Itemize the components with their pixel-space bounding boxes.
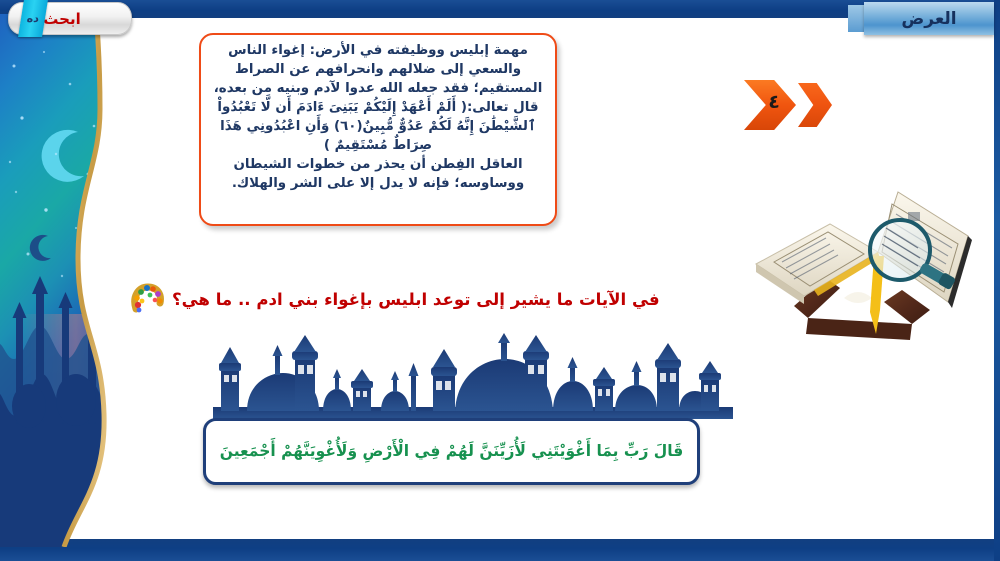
frame-bottom-bar	[0, 539, 1000, 561]
question-row: في الآيات ما يشير إلى توعد ابليس بإغواء …	[130, 282, 730, 316]
callout-paragraph-1: مهمة إبليس ووظيفته في الأرض: إغواء الناس…	[210, 41, 546, 155]
quran-verse-box: قَالَ رَبِّ بِمَا أَغْوَيْتَنِي لَأُزَيِ…	[203, 418, 700, 485]
chevron-small-icon	[798, 83, 832, 127]
frame-right-edge	[994, 0, 1000, 561]
callout-paragraph-2: العاقل الفِطن أن يحذر من خطوات الشيطان و…	[210, 155, 546, 193]
tab-search-label: ابحث	[43, 10, 80, 28]
slide-canvas: ده ابحث العرض مهمة إبليس ووظيفته في الأر…	[0, 0, 1000, 561]
quran-verse-text: قَالَ رَبِّ بِمَا أَغْوَيْتَنِي لَأُزَيِ…	[208, 440, 695, 463]
question-text: في الآيات ما يشير إلى توعد ابليس بإغواء …	[172, 290, 660, 309]
quran-illustration	[752, 178, 988, 350]
mosque-skyline-icon	[195, 333, 751, 425]
tab-search-badge: ده	[18, 0, 48, 37]
tab-view-label: العرض	[901, 9, 956, 29]
lesson-callout-box: مهمة إبليس ووظيفته في الأرض: إغواء الناس…	[199, 33, 557, 226]
left-decor-panel	[0, 14, 113, 547]
flower-ornament-icon	[130, 283, 164, 315]
left-panel-art	[0, 14, 113, 547]
slide-number: ٤	[760, 91, 788, 113]
tab-search[interactable]: ده ابحث	[8, 2, 132, 35]
open-quran-on-rehal-icon	[752, 178, 988, 350]
mosque-skyline	[195, 333, 751, 425]
slide-number-arrow: ٤	[744, 80, 840, 130]
tab-view[interactable]: العرض	[848, 0, 994, 38]
tab-view-ribbon-body: العرض	[864, 2, 994, 35]
